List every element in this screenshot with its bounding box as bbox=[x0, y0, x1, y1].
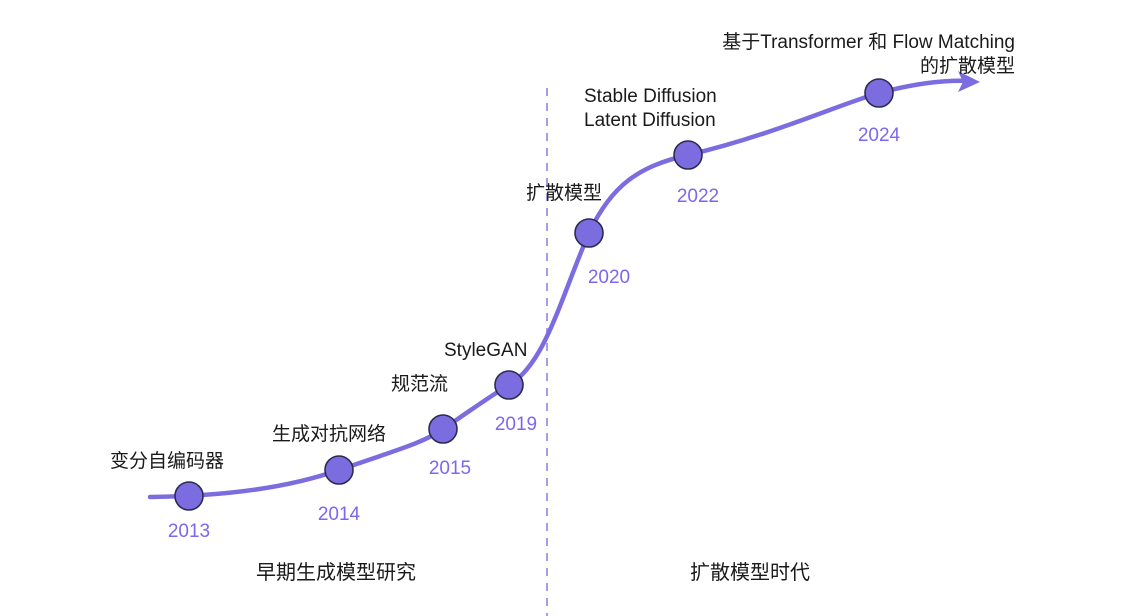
year-label-2014: 2014 bbox=[299, 503, 379, 527]
milestone-node-2014[interactable] bbox=[325, 456, 353, 484]
early-era-label: 早期生成模型研究 bbox=[186, 561, 486, 587]
diffusion-era-label: 扩散模型时代 bbox=[600, 561, 900, 587]
event-label-2015: 规范流 bbox=[391, 373, 448, 397]
year-label-2022: 2022 bbox=[658, 185, 738, 209]
milestone-node-2020[interactable] bbox=[575, 219, 603, 247]
milestone-node-2024[interactable] bbox=[865, 79, 893, 107]
event-label-2019: StyleGAN bbox=[444, 339, 527, 363]
year-label-2019: 2019 bbox=[476, 413, 556, 437]
year-label-2020: 2020 bbox=[569, 266, 649, 290]
milestone-node-2015[interactable] bbox=[429, 415, 457, 443]
event-label-2014: 生成对抗网络 bbox=[272, 423, 386, 447]
event-label-2020: 扩散模型 bbox=[526, 182, 602, 206]
event-label-2022: Stable Diffusion Latent Diffusion bbox=[584, 85, 717, 134]
year-label-2015: 2015 bbox=[410, 457, 490, 481]
year-label-2024: 2024 bbox=[839, 124, 919, 148]
milestone-node-2022[interactable] bbox=[674, 141, 702, 169]
milestone-node-2019[interactable] bbox=[495, 371, 523, 399]
milestone-node-2013[interactable] bbox=[175, 482, 203, 510]
year-label-2013: 2013 bbox=[149, 520, 229, 544]
event-label-2013: 变分自编码器 bbox=[110, 450, 224, 474]
timeline-diagram: 变分自编码器2013生成对抗网络2014规范流2015StyleGAN2019扩… bbox=[0, 0, 1127, 616]
event-label-2024: 基于Transformer 和 Flow Matching 的扩散模型 bbox=[0, 31, 1015, 80]
